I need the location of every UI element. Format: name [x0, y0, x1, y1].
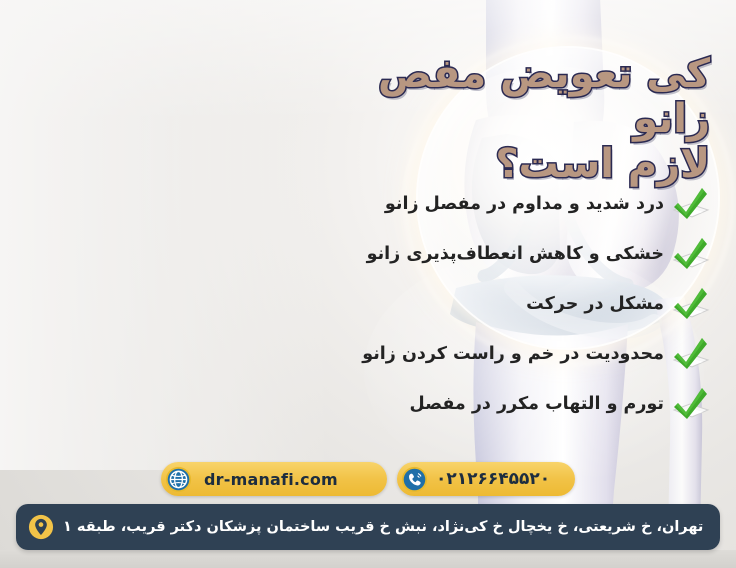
green-check-icon — [670, 236, 712, 276]
list-item-label: تورم و التهاب مکرر در مفصل — [409, 396, 664, 416]
title-line-1: کی تعویض مفص زانو — [290, 52, 710, 142]
address-label: تهران، خ شریعتی، خ یخچال خ کی‌نژاد، نبش … — [63, 519, 703, 535]
phone-call-icon — [401, 466, 428, 493]
globe-icon — [165, 466, 192, 493]
website-label: dr-manafi.com — [204, 470, 338, 489]
address-bar: تهران، خ شریعتی، خ یخچال خ کی‌نژاد، نبش … — [16, 504, 720, 550]
title-line-2: لازم است؟ — [290, 142, 710, 187]
list-item-label: خشکی و کاهش انعطاف‌پذیری زانو — [367, 246, 664, 266]
list-item-label: درد شدید و مداوم در مفصل زانو — [385, 196, 664, 216]
left-fade-overlay — [0, 0, 330, 470]
phone-label: ۰۲۱۲۶۶۴۵۵۲۰ — [436, 469, 550, 489]
list-item-label: مشکل در حرکت — [526, 296, 664, 316]
green-check-icon — [670, 286, 712, 326]
phone-pill[interactable]: ۰۲۱۲۶۶۴۵۵۲۰ — [397, 462, 575, 496]
bottom-strip — [0, 550, 736, 568]
list-item: درد شدید و مداوم در مفصل زانو — [312, 186, 712, 226]
list-item: تورم و التهاب مکرر در مفصل — [312, 386, 712, 426]
green-check-icon — [670, 186, 712, 226]
list-item: محدودیت در خم و راست کردن زانو — [312, 336, 712, 376]
list-item: خشکی و کاهش انعطاف‌پذیری زانو — [312, 236, 712, 276]
list-item-label: محدودیت در خم و راست کردن زانو — [362, 346, 664, 366]
contact-pill-row: dr-manafi.com ۰۲۱۲۶۶۴۵۵۲۰ — [0, 462, 736, 496]
website-pill[interactable]: dr-manafi.com — [161, 462, 387, 496]
poster-title: کی تعویض مفص زانو لازم است؟ — [290, 52, 710, 186]
green-check-icon — [670, 386, 712, 426]
green-check-icon — [670, 336, 712, 376]
list-item: مشکل در حرکت — [312, 286, 712, 326]
location-pin-icon — [28, 514, 54, 540]
poster-root: کی تعویض مفص زانو لازم است؟ درد شدید و م… — [0, 0, 736, 568]
symptom-checklist: درد شدید و مداوم در مفصل زانو خشکی و کاه… — [312, 186, 712, 426]
